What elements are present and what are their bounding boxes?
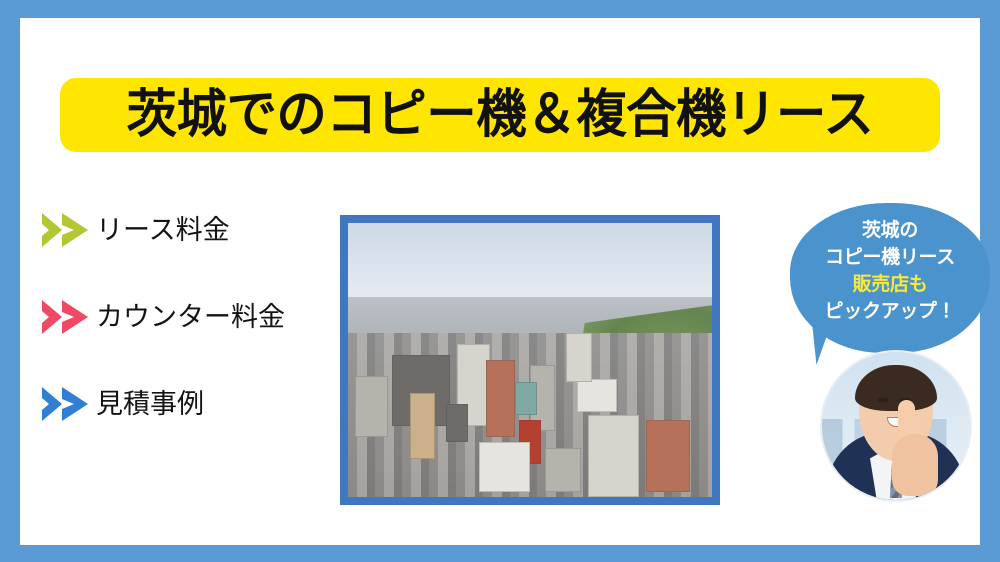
photo-building bbox=[515, 382, 537, 415]
page-title: 茨城でのコピー機＆複合機リース bbox=[127, 89, 874, 141]
photo-building bbox=[479, 442, 530, 491]
list-item-label: 見積事例 bbox=[96, 391, 204, 418]
city-aerial-photo bbox=[348, 223, 712, 497]
double-chevron-right-icon bbox=[40, 384, 94, 424]
slide-root: 茨城でのコピー機＆複合機リース リース料金 bbox=[0, 0, 1000, 562]
photo-building bbox=[486, 360, 515, 437]
photo-building bbox=[566, 333, 591, 382]
photo-sky bbox=[348, 223, 712, 305]
list-item[interactable]: カウンター料金 bbox=[40, 291, 330, 343]
speech-bubble: 茨城の コピー機リース 販売店も ピックアップ！ bbox=[790, 203, 990, 353]
speech-bubble-line-1: 茨城の bbox=[790, 217, 990, 244]
avatar bbox=[820, 350, 972, 502]
photo-building bbox=[446, 404, 468, 442]
list-item[interactable]: リース料金 bbox=[40, 204, 330, 256]
list-item-label: リース料金 bbox=[96, 217, 230, 244]
double-chevron-right-icon bbox=[40, 297, 94, 337]
photo-building bbox=[588, 415, 639, 497]
avatar-eye bbox=[877, 398, 888, 402]
city-photo-frame bbox=[340, 215, 720, 505]
photo-building bbox=[545, 448, 581, 492]
avatar-hair bbox=[855, 365, 937, 411]
speech-bubble-line-4: ピックアップ！ bbox=[790, 298, 990, 325]
photo-building bbox=[646, 420, 690, 491]
speech-bubble-text: 茨城の コピー機リース 販売店も ピックアップ！ bbox=[790, 217, 990, 325]
list-item-label: カウンター料金 bbox=[96, 304, 285, 331]
avatar-hand bbox=[892, 434, 938, 496]
photo-building bbox=[577, 379, 617, 412]
speech-bubble-line-3: 販売店も bbox=[790, 271, 990, 298]
title-banner: 茨城でのコピー機＆複合機リース bbox=[60, 78, 940, 152]
speech-bubble-line-2: コピー機リース bbox=[790, 244, 990, 271]
photo-building bbox=[410, 393, 435, 459]
photo-building bbox=[355, 376, 388, 436]
double-chevron-right-icon bbox=[40, 210, 94, 250]
slide-content-area: 茨城でのコピー機＆複合機リース リース料金 bbox=[20, 18, 980, 545]
list-item[interactable]: 見積事例 bbox=[40, 378, 330, 430]
bullet-list: リース料金 カウンター料金 見積事例 bbox=[40, 204, 330, 465]
